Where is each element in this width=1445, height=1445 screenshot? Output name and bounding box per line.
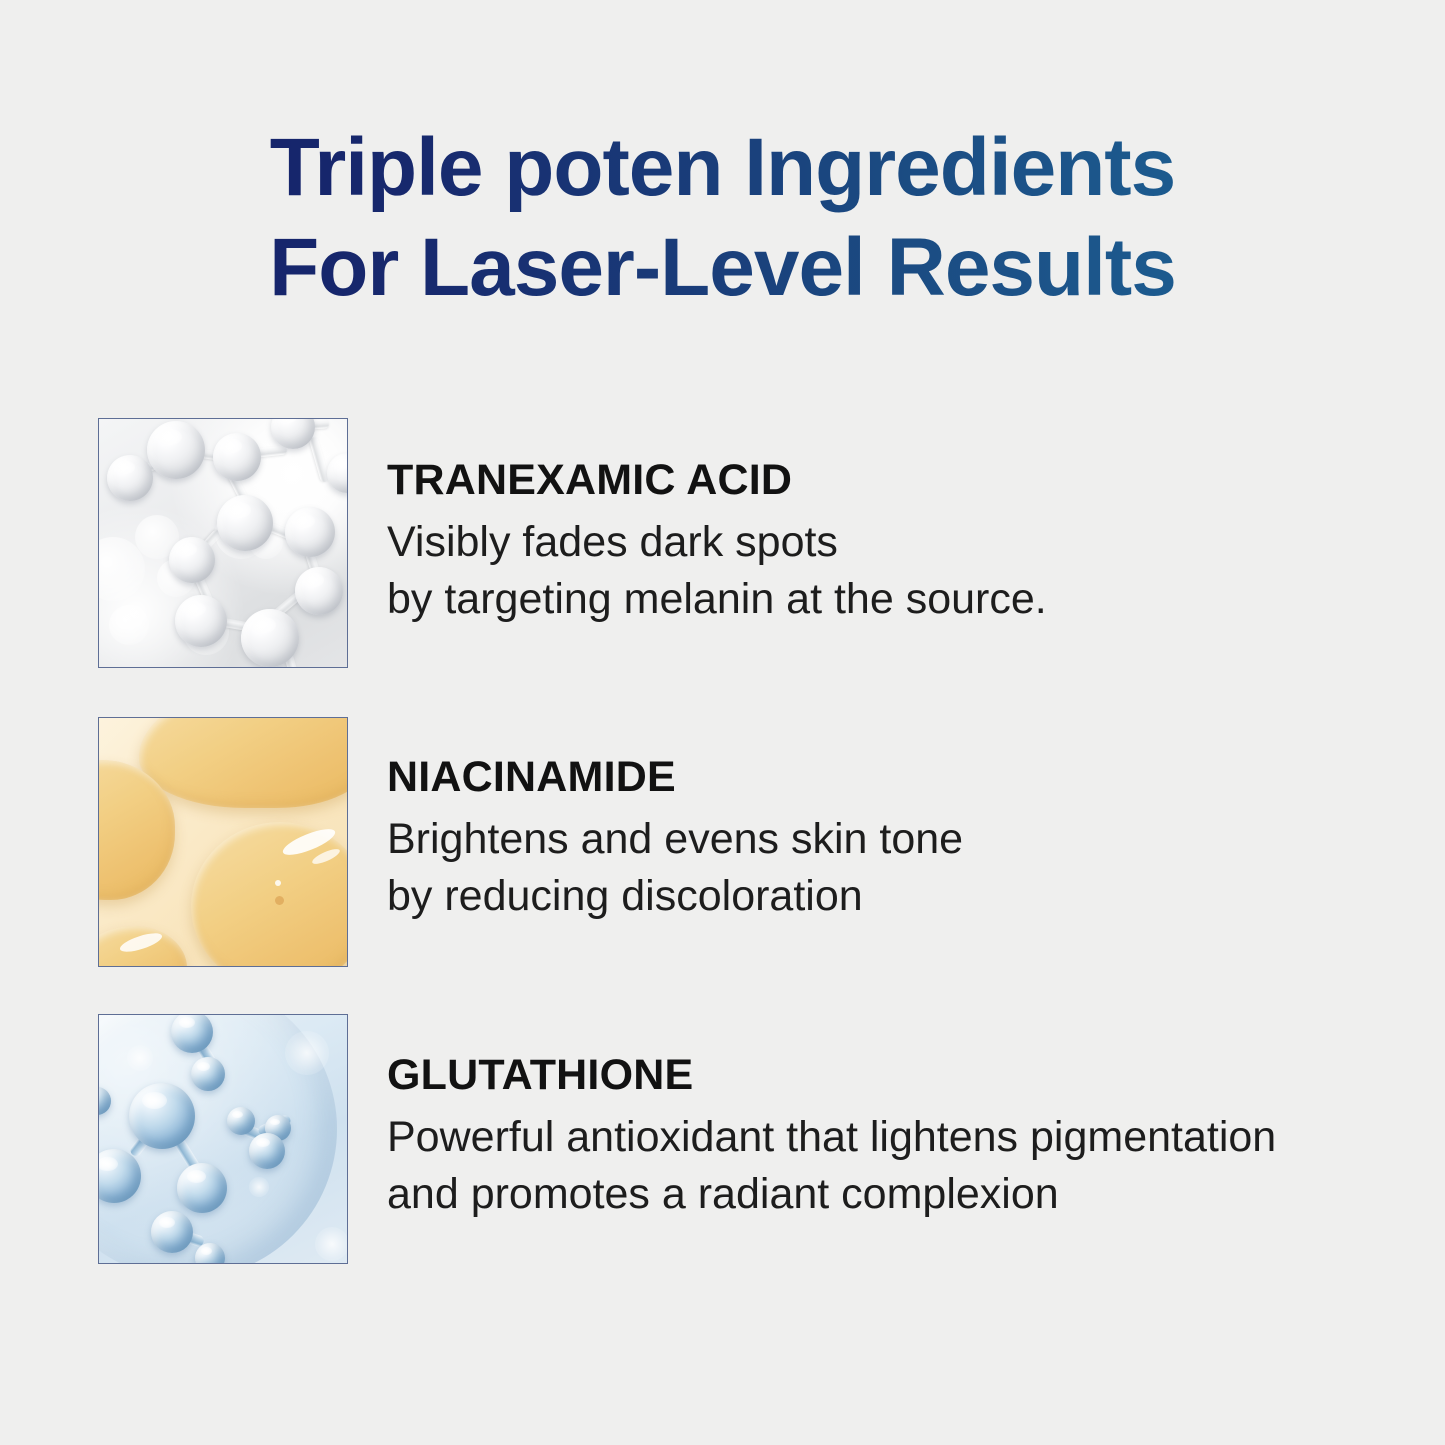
ingredient-row-tranexamic-acid: TRANEXAMIC ACID Visibly fades dark spots…: [98, 418, 1348, 668]
page-title: Triple poten Ingredients For Laser-Level…: [0, 118, 1445, 318]
ingredient-image-white-molecule: [98, 418, 348, 668]
ingredient-text-block: TRANEXAMIC ACID Visibly fades dark spots…: [387, 418, 1047, 628]
ingredient-name: TRANEXAMIC ACID: [387, 454, 1047, 506]
ingredient-name: GLUTATHIONE: [387, 1049, 1276, 1101]
ingredient-image-amber-serum: [98, 717, 348, 967]
ingredient-row-niacinamide: NIACINAMIDE Brightens and evens skin ton…: [98, 717, 1348, 967]
ingredient-benefits-poster: Triple poten Ingredients For Laser-Level…: [0, 0, 1445, 1445]
ingredient-image-blue-molecules: [98, 1014, 348, 1264]
ingredient-description: Visibly fades dark spots by targeting me…: [387, 514, 1047, 628]
ingredient-name: NIACINAMIDE: [387, 751, 963, 803]
ingredient-description: Brightens and evens skin tone by reducin…: [387, 811, 963, 925]
ingredient-text-block: NIACINAMIDE Brightens and evens skin ton…: [387, 717, 963, 925]
ingredient-row-glutathione: GLUTATHIONE Powerful antioxidant that li…: [98, 1014, 1348, 1264]
ingredient-text-block: GLUTATHIONE Powerful antioxidant that li…: [387, 1014, 1276, 1223]
ingredient-description: Powerful antioxidant that lightens pigme…: [387, 1109, 1276, 1223]
